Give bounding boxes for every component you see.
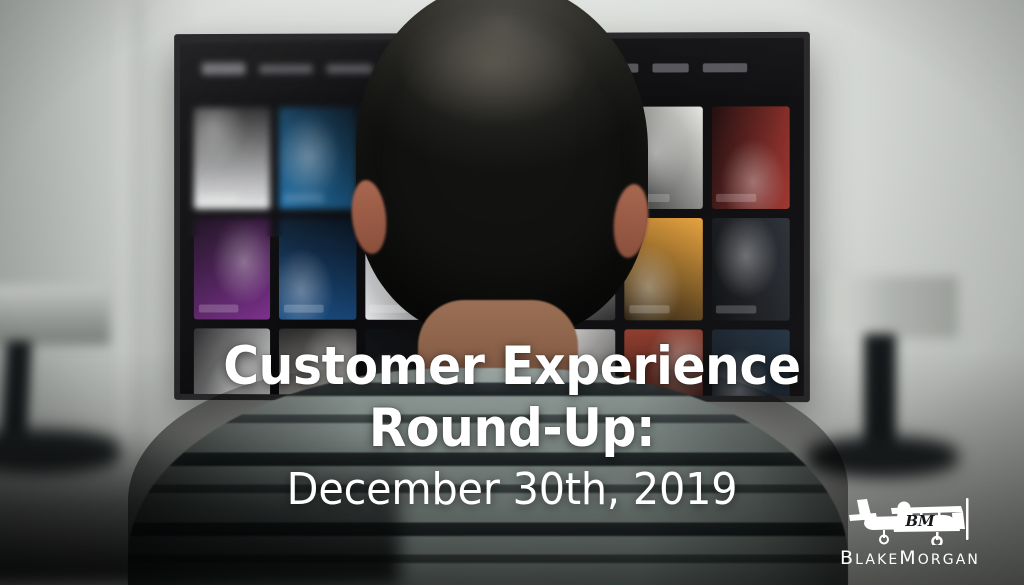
tv-thumbnail (451, 218, 528, 320)
tv-thumbnail (624, 107, 702, 209)
tv-thumbnail (194, 218, 271, 320)
tv-thumbnail (451, 107, 528, 209)
tv-nav-item (259, 64, 313, 73)
tv-nav-item (703, 63, 747, 72)
tv-thumbnail (711, 218, 789, 321)
tv-nav-item (462, 63, 502, 72)
tv-thumbnail (538, 218, 616, 320)
tv-navigation-bar (180, 38, 804, 98)
logo-word-m: M (899, 547, 918, 569)
biplane-icon: BM (845, 493, 975, 545)
logo-word-lake: LAKE (855, 552, 899, 568)
slide-canvas: Customer Experience Round-Up: December 3… (0, 0, 1024, 585)
tv-nav-item (386, 64, 448, 73)
tv-thumbnail (194, 107, 271, 209)
tv-thumbnail (279, 107, 356, 209)
title-line-1: Customer Experience (41, 336, 983, 398)
lamp-shade (806, 276, 958, 338)
tv-thumbnail (538, 107, 616, 209)
logo-word-organ: ORGAN (918, 552, 980, 568)
tv-thumbnail (365, 107, 442, 209)
logo-wordmark: BLAKEMORGAN (840, 547, 980, 569)
tv-app-logo-icon (202, 63, 246, 75)
tv-thumbnail (711, 106, 789, 209)
tv-nav-item (580, 63, 638, 72)
blakemorgan-logo[interactable]: BM BLAKEMORGAN (822, 493, 998, 569)
tv-nav-item (652, 63, 688, 72)
tv-nav-item (516, 63, 566, 72)
monogram-bm: BM (904, 512, 935, 530)
title-line-2: Round-Up: (41, 398, 983, 460)
tv-thumbnail (365, 218, 442, 320)
logo-word-b: B (840, 547, 855, 569)
tv-thumbnail (624, 218, 702, 320)
tv-nav-item (327, 64, 373, 73)
tv-thumbnail (279, 218, 356, 320)
